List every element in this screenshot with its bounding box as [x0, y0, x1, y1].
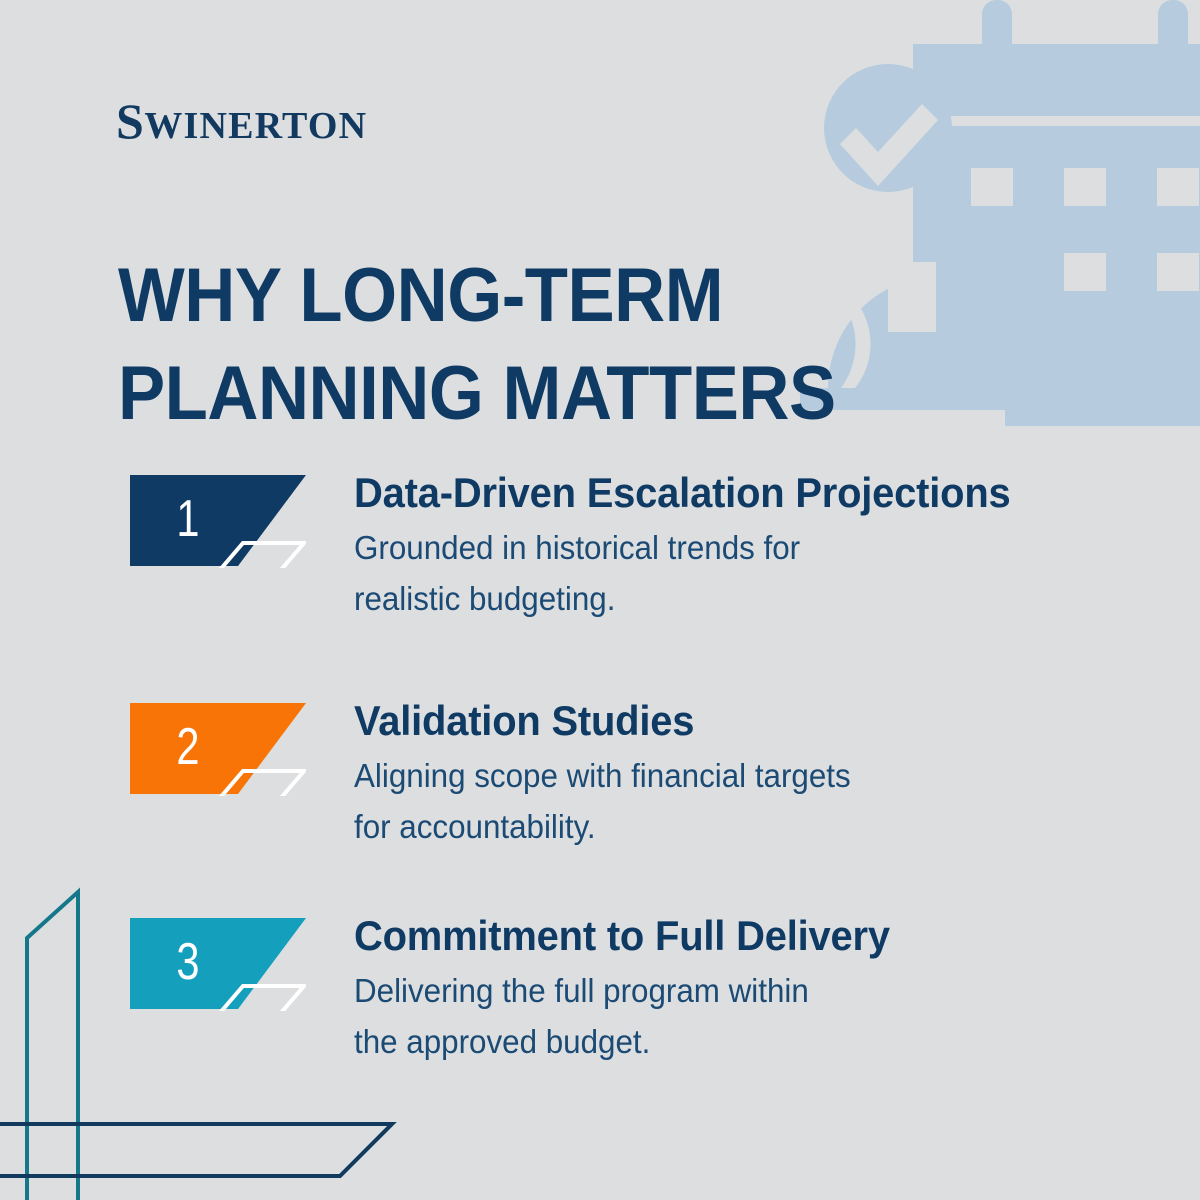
item-description-line-2: realistic budgeting.: [354, 574, 1114, 624]
infographic-canvas: SWINERTON WHY LONG-TERM PLANNING MATTERS…: [0, 0, 1200, 1200]
number-badge: 3: [130, 913, 306, 1011]
band-outline-icon: [0, 1124, 392, 1176]
number-badge: 1: [130, 470, 306, 568]
badge-number-label: 1: [142, 470, 235, 568]
page-title-line-2: PLANNING MATTERS: [118, 345, 918, 443]
item-description-line-2: for accountability.: [354, 802, 1114, 852]
item-text-block: Validation Studies Aligning scope with f…: [354, 698, 1154, 852]
page-title: WHY LONG-TERM PLANNING MATTERS: [118, 247, 918, 443]
badge-number-label: 2: [142, 698, 235, 796]
item-description-line-1: Aligning scope with financial targets: [354, 751, 1114, 801]
logo-initial: S: [116, 93, 144, 149]
item-description: Delivering the full program within the a…: [354, 966, 1114, 1066]
item-description-line-1: Delivering the full program within: [354, 966, 1114, 1016]
item-title: Commitment to Full Delivery: [354, 913, 1114, 958]
check-circle-icon: [824, 64, 952, 192]
tower-outline-icon: [27, 892, 78, 1200]
calendar-icon: [913, 0, 1200, 426]
item-text-block: Commitment to Full Delivery Delivering t…: [354, 913, 1154, 1067]
item-text-block: Data-Driven Escalation Projections Groun…: [354, 470, 1154, 624]
logo-wordmark: WINERTON: [144, 105, 367, 147]
item-title: Validation Studies: [354, 698, 1114, 743]
item-description: Aligning scope with financial targets fo…: [354, 751, 1114, 851]
item-description: Grounded in historical trends for realis…: [354, 523, 1114, 623]
number-badge: 2: [130, 698, 306, 796]
item-title: Data-Driven Escalation Projections: [354, 470, 1114, 515]
item-description-line-1: Grounded in historical trends for: [354, 523, 1114, 573]
item-description-line-2: the approved budget.: [354, 1017, 1114, 1067]
badge-number-label: 3: [142, 913, 235, 1011]
swinerton-logo: SWINERTON: [116, 96, 367, 146]
page-title-line-1: WHY LONG-TERM: [118, 247, 918, 345]
